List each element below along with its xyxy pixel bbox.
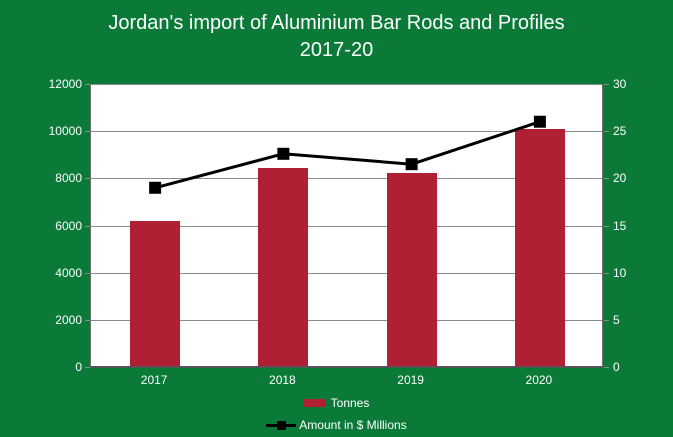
left-axis-tick-label: 4000 (55, 267, 82, 279)
line-marker[interactable] (149, 182, 161, 194)
chart-title: Jordan's import of Aluminium Bar Rods an… (0, 10, 673, 64)
line-path (155, 122, 540, 188)
legend-item-tonnes[interactable]: Tonnes (0, 392, 673, 414)
right-axis-tick-mark (604, 178, 609, 179)
right-axis-tick-marks (604, 84, 609, 367)
line-marker[interactable] (406, 158, 418, 170)
category-axis-labels: 2017201820192020 (90, 373, 603, 389)
legend-label-tonnes: Tonnes (331, 396, 370, 410)
right-axis-tick-mark (604, 367, 609, 368)
right-axis-tick-label: 10 (613, 267, 626, 279)
line-series-amount-in-usd-millions (91, 84, 604, 367)
line-marker[interactable] (534, 116, 546, 128)
left-axis-tick-label: 10000 (49, 125, 82, 137)
right-axis-tick-label: 0 (613, 361, 620, 373)
right-axis-tick-mark (604, 131, 609, 132)
right-axis-tick-mark (604, 273, 609, 274)
left-axis-tick-label: 8000 (55, 172, 82, 184)
legend-line-marker-icon (266, 420, 296, 430)
left-axis-labels: 020004000600080001000012000 (20, 84, 82, 367)
legend-bar-swatch-icon (304, 399, 326, 407)
right-axis-tick-mark (604, 320, 609, 321)
legend-item-amount-in-usd-millions[interactable]: Amount in $ Millions (0, 414, 673, 436)
right-axis-tick-label: 25 (613, 125, 626, 137)
left-axis-tick-label: 6000 (55, 220, 82, 232)
right-axis-tick-label: 5 (613, 314, 620, 326)
left-axis-tick-label: 2000 (55, 314, 82, 326)
category-label: 2020 (526, 373, 553, 387)
category-label: 2018 (269, 373, 296, 387)
right-axis-labels: 051015202530 (613, 84, 663, 367)
category-label: 2019 (397, 373, 424, 387)
right-axis-tick-mark (604, 84, 609, 85)
line-marker[interactable] (277, 148, 289, 160)
right-axis-tick-label: 30 (613, 78, 626, 90)
right-axis-tick-label: 20 (613, 172, 626, 184)
chart-container: Jordan's import of Aluminium Bar Rods an… (0, 0, 673, 437)
plot-area (90, 84, 603, 367)
right-axis-tick-label: 15 (613, 220, 626, 232)
legend-label-amount-in-usd-millions: Amount in $ Millions (299, 418, 406, 432)
right-axis-tick-mark (604, 226, 609, 227)
chart-legend: Tonnes Amount in $ Millions (0, 392, 673, 436)
x-axis-baseline (91, 366, 602, 368)
left-axis-tick-mark (85, 367, 90, 368)
left-axis-tick-label: 0 (75, 361, 82, 373)
category-label: 2017 (141, 373, 168, 387)
left-axis-tick-label: 12000 (49, 78, 82, 90)
